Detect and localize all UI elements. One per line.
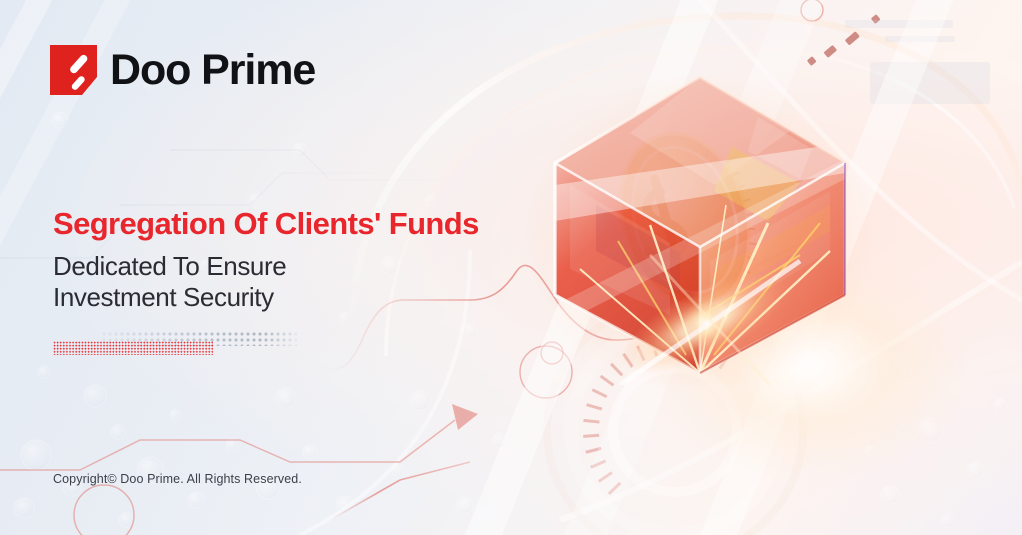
red-halftone-bar bbox=[53, 341, 213, 355]
hero-graphic-glass-cube bbox=[500, 55, 900, 385]
doo-prime-logo-mark-icon bbox=[50, 45, 97, 95]
copyright-notice: Copyright© Doo Prime. All Rights Reserve… bbox=[53, 472, 302, 486]
hero-headline: Segregation Of Clients' Funds bbox=[53, 207, 523, 242]
brand-logo[interactable]: Doo Prime bbox=[50, 45, 315, 95]
hero-subheadline-line-2: Investment Security bbox=[53, 282, 523, 314]
hero-subheadline-line-1: Dedicated To Ensure bbox=[53, 251, 523, 283]
center-glow bbox=[600, 215, 1020, 515]
hero-copy-block: Segregation Of Clients' Funds Dedicated … bbox=[53, 207, 523, 314]
brand-name-primary: Doo bbox=[110, 46, 190, 94]
brand-logo-wordmark: Doo Prime bbox=[110, 49, 315, 92]
hero-subheadline: Dedicated To Ensure Investment Security bbox=[53, 251, 523, 314]
brand-name-secondary: Prime bbox=[201, 46, 315, 94]
decorative-halftone-bars bbox=[53, 331, 303, 355]
marketing-banner: Doo Prime Segregation Of Clients' Funds … bbox=[0, 0, 1022, 535]
